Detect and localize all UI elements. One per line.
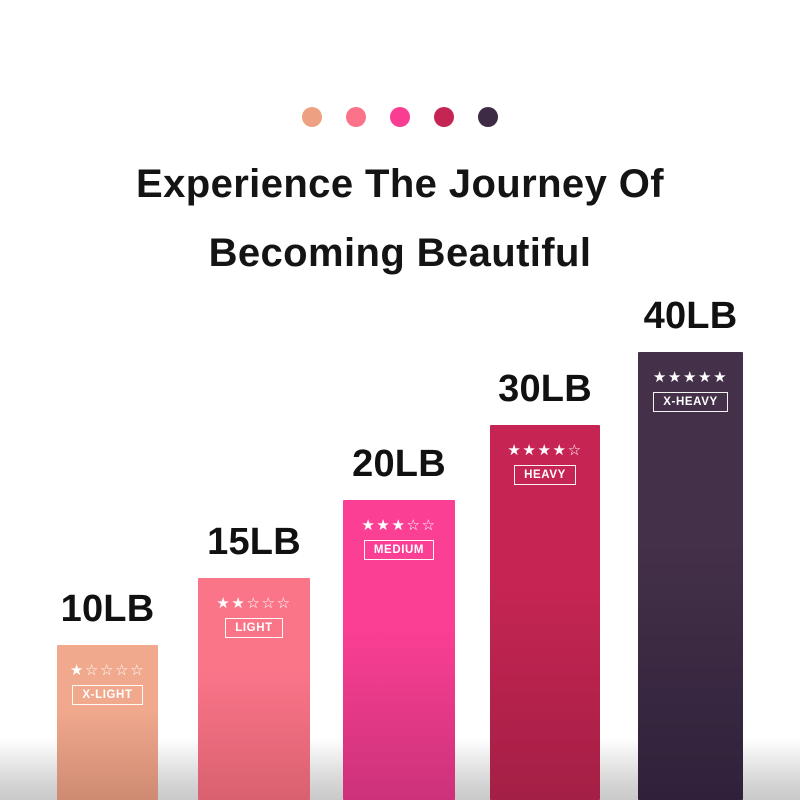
resistance-level-badge: X-LIGHT [72, 685, 142, 705]
bar-body[interactable]: ★☆☆☆☆X-LIGHT [57, 645, 158, 800]
bar-group-x-heavy[interactable]: 40LB★★★★★X-HEAVY [638, 0, 743, 800]
star-rating-icon: ★★★★☆ [507, 443, 582, 458]
star-rating-icon: ★☆☆☆☆ [70, 663, 145, 678]
bar-body[interactable]: ★★☆☆☆LIGHT [198, 578, 310, 800]
bar-group-heavy[interactable]: 30LB★★★★☆HEAVY [490, 0, 600, 800]
bar-weight-label: 20LB [352, 443, 446, 486]
resistance-level-badge: LIGHT [225, 618, 283, 638]
bar-annotation: ★★★★★X-HEAVY [638, 370, 743, 412]
bar-annotation: ★☆☆☆☆X-LIGHT [57, 663, 158, 705]
bar-body[interactable]: ★★★★☆HEAVY [490, 425, 600, 800]
star-rating-icon: ★★★☆☆ [361, 518, 436, 533]
bar-group-medium[interactable]: 20LB★★★☆☆MEDIUM [343, 0, 455, 800]
bar-weight-label: 30LB [498, 368, 592, 411]
star-rating-icon: ★★☆☆☆ [216, 596, 291, 611]
resistance-band-bar-chart: 10LB★☆☆☆☆X-LIGHT15LB★★☆☆☆LIGHT20LB★★★☆☆M… [0, 0, 800, 800]
bar-annotation: ★★★★☆HEAVY [490, 443, 600, 485]
infographic-canvas: Experience The Journey Of Becoming Beaut… [0, 0, 800, 800]
bar-annotation: ★★☆☆☆LIGHT [198, 596, 310, 638]
resistance-level-badge: X-HEAVY [653, 392, 727, 412]
resistance-level-badge: HEAVY [514, 465, 576, 485]
bar-weight-label: 15LB [207, 521, 301, 564]
bar-weight-label: 10LB [61, 588, 155, 631]
star-rating-icon: ★★★★★ [653, 370, 728, 385]
resistance-level-badge: MEDIUM [364, 540, 434, 560]
bar-annotation: ★★★☆☆MEDIUM [343, 518, 455, 560]
bar-body[interactable]: ★★★★★X-HEAVY [638, 352, 743, 800]
bar-group-light[interactable]: 15LB★★☆☆☆LIGHT [198, 0, 310, 800]
bar-group-x-light[interactable]: 10LB★☆☆☆☆X-LIGHT [57, 0, 158, 800]
bar-weight-label: 40LB [644, 295, 738, 338]
bar-body[interactable]: ★★★☆☆MEDIUM [343, 500, 455, 800]
